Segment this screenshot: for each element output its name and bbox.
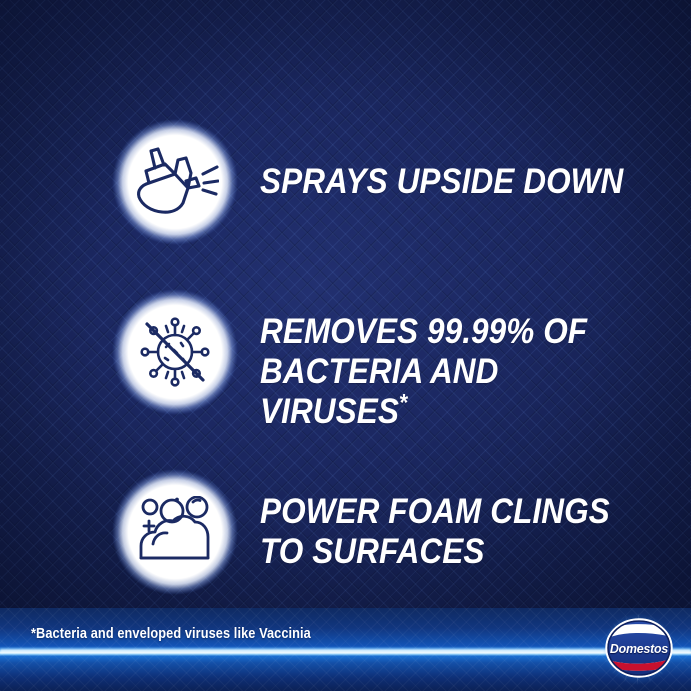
feature-text: REMOVES 99.99% OF BACTERIA AND VIRUSES* — [260, 272, 648, 432]
feature-row: SPRAYS UPSIDE DOWN — [0, 119, 691, 245]
footnote-asterisk: * — [399, 389, 408, 416]
feature-row: POWER FOAM CLINGS TO SURFACES — [0, 469, 691, 595]
feature-text-main: REMOVES 99.99% OF BACTERIA AND VIRUSES — [260, 312, 587, 431]
spray-bottle-upside-down-icon — [131, 143, 219, 221]
virus-crossed-out-icon — [135, 312, 215, 392]
domestos-logo-icon — [604, 617, 674, 679]
feature-list: SPRAYS UPSIDE DOWN — [0, 0, 691, 620]
feature-icon-container — [112, 119, 238, 245]
promo-banner: SPRAYS UPSIDE DOWN — [0, 0, 691, 691]
foam-bubbles-icon — [135, 496, 215, 568]
feature-icon-container — [112, 289, 238, 415]
feature-text: POWER FOAM CLINGS TO SURFACES — [260, 492, 610, 572]
footnote-text: *Bacteria and enveloped viruses like Vac… — [31, 626, 311, 642]
feature-text: SPRAYS UPSIDE DOWN — [260, 162, 623, 202]
domestos-logo: Domestos — [604, 617, 674, 679]
feature-icon-container — [112, 469, 238, 595]
feature-row: REMOVES 99.99% OF BACTERIA AND VIRUSES* — [0, 289, 691, 415]
